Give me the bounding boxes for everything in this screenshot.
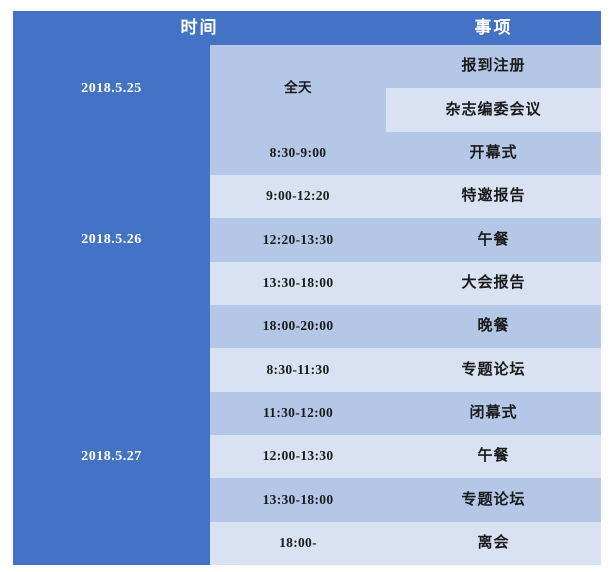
header-row: 时间 事项 bbox=[13, 11, 601, 45]
time-cell: 8:30-9:00 bbox=[210, 132, 386, 175]
event-cell: 报到注册 bbox=[386, 45, 601, 88]
time-cell: 11:30-12:00 bbox=[210, 392, 386, 435]
table-row: 2018.5.278:30-11:30专题论坛 bbox=[13, 348, 601, 391]
table-header: 时间 事项 bbox=[13, 11, 601, 45]
time-cell: 12:00-13:30 bbox=[210, 435, 386, 478]
event-cell: 特邀报告 bbox=[386, 175, 601, 218]
event-cell: 开幕式 bbox=[386, 132, 601, 175]
event-cell: 闭幕式 bbox=[386, 392, 601, 435]
header-time: 时间 bbox=[13, 11, 386, 45]
time-cell: 18:00-20:00 bbox=[210, 305, 386, 348]
event-cell: 离会 bbox=[386, 522, 601, 565]
table-row: 2018.5.25全天报到注册 bbox=[13, 45, 601, 88]
header-event: 事项 bbox=[386, 11, 601, 45]
time-cell: 18:00- bbox=[210, 522, 386, 565]
date-cell: 2018.5.27 bbox=[13, 348, 210, 565]
date-cell: 2018.5.25 bbox=[13, 45, 210, 132]
event-cell: 专题论坛 bbox=[386, 348, 601, 391]
time-cell: 9:00-12:20 bbox=[210, 175, 386, 218]
event-cell: 晚餐 bbox=[386, 305, 601, 348]
event-cell: 杂志编委会议 bbox=[386, 88, 601, 131]
event-cell: 专题论坛 bbox=[386, 478, 601, 521]
conference-schedule-table: 时间 事项 2018.5.25全天报到注册杂志编委会议2018.5.268:30… bbox=[13, 11, 601, 565]
table-row: 2018.5.268:30-9:00开幕式 bbox=[13, 132, 601, 175]
date-cell: 2018.5.26 bbox=[13, 132, 210, 349]
time-cell: 全天 bbox=[210, 45, 386, 132]
time-cell: 13:30-18:00 bbox=[210, 262, 386, 305]
event-cell: 大会报告 bbox=[386, 262, 601, 305]
event-cell: 午餐 bbox=[386, 435, 601, 478]
time-cell: 8:30-11:30 bbox=[210, 348, 386, 391]
time-cell: 12:20-13:30 bbox=[210, 218, 386, 261]
time-cell: 13:30-18:00 bbox=[210, 478, 386, 521]
event-cell: 午餐 bbox=[386, 218, 601, 261]
table-body: 2018.5.25全天报到注册杂志编委会议2018.5.268:30-9:00开… bbox=[13, 45, 601, 565]
